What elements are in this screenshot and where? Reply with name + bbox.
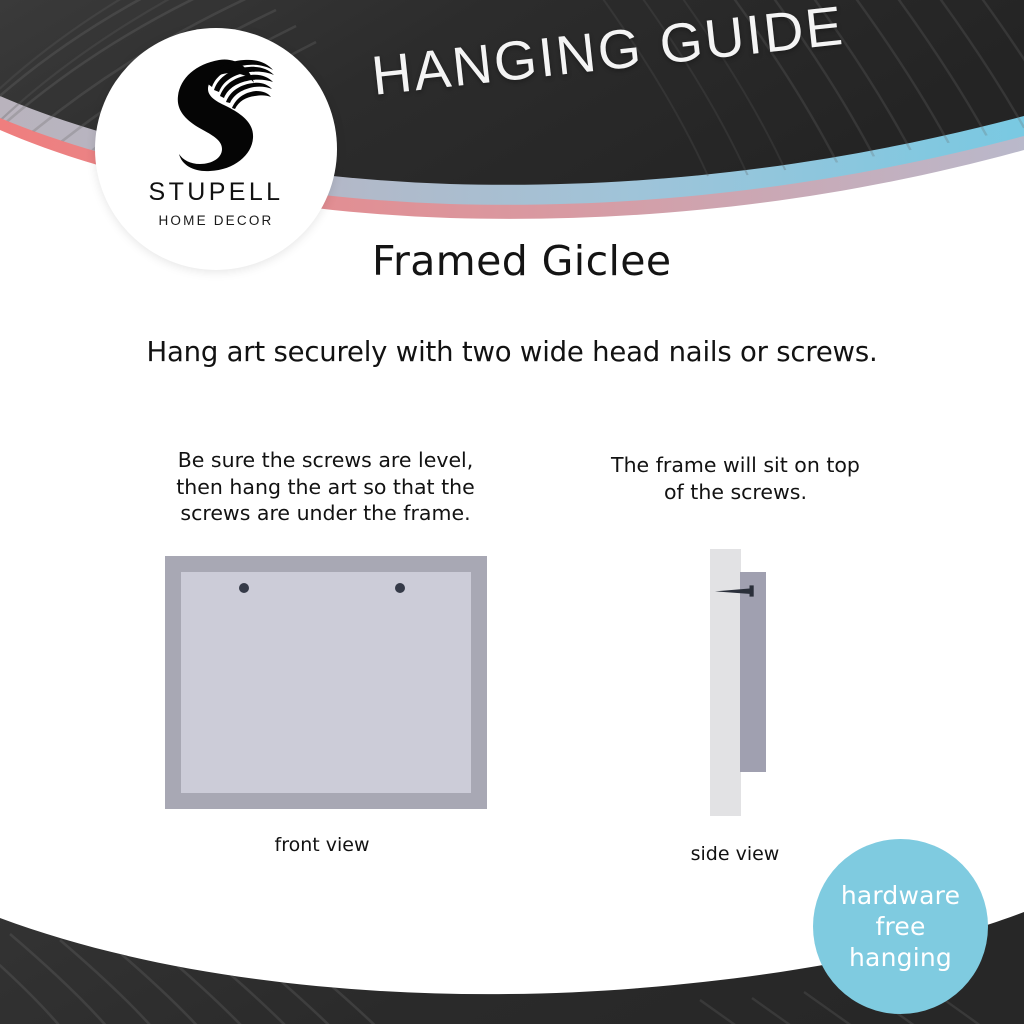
badge-line: hanging — [849, 942, 952, 973]
caption-line: The frame will sit on top — [588, 452, 883, 479]
front-view-diagram — [165, 556, 487, 809]
page-title: HANGING GUIDE — [369, 0, 848, 108]
product-type: Framed Giclee — [372, 237, 672, 285]
screw-dot-left — [239, 583, 249, 593]
lead-instruction: Hang art securely with two wide head nai… — [0, 336, 1024, 368]
badge-line: hardware — [841, 880, 960, 911]
caption-line: then hang the art so that the — [143, 474, 508, 501]
brand-name: STUPELL — [149, 180, 284, 205]
nail-icon — [715, 585, 760, 597]
badge-line: free — [875, 911, 925, 942]
screw-dot-right — [395, 583, 405, 593]
brand-logo-badge: STUPELL HOME DECOR — [95, 28, 337, 270]
caption-line: of the screws. — [588, 479, 883, 506]
side-view-diagram — [706, 545, 786, 820]
front-view-label: front view — [166, 834, 478, 856]
hanging-guide-page: STUPELL HOME DECOR HANGING GUIDE Framed … — [0, 0, 1024, 1024]
hardware-free-hanging-badge: hardware free hanging — [813, 839, 988, 1014]
side-view-label: side view — [628, 843, 842, 865]
frame-strip — [740, 572, 766, 772]
side-view-caption: The frame will sit on top of the screws. — [588, 452, 883, 505]
brand-tagline: HOME DECOR — [158, 214, 273, 228]
stupell-swoosh-logo-icon — [156, 54, 276, 172]
front-view-caption: Be sure the screws are level, then hang … — [143, 447, 508, 527]
caption-line: Be sure the screws are level, — [143, 447, 508, 474]
frame-artwork-panel — [181, 572, 471, 793]
caption-line: screws are under the frame. — [143, 500, 508, 527]
